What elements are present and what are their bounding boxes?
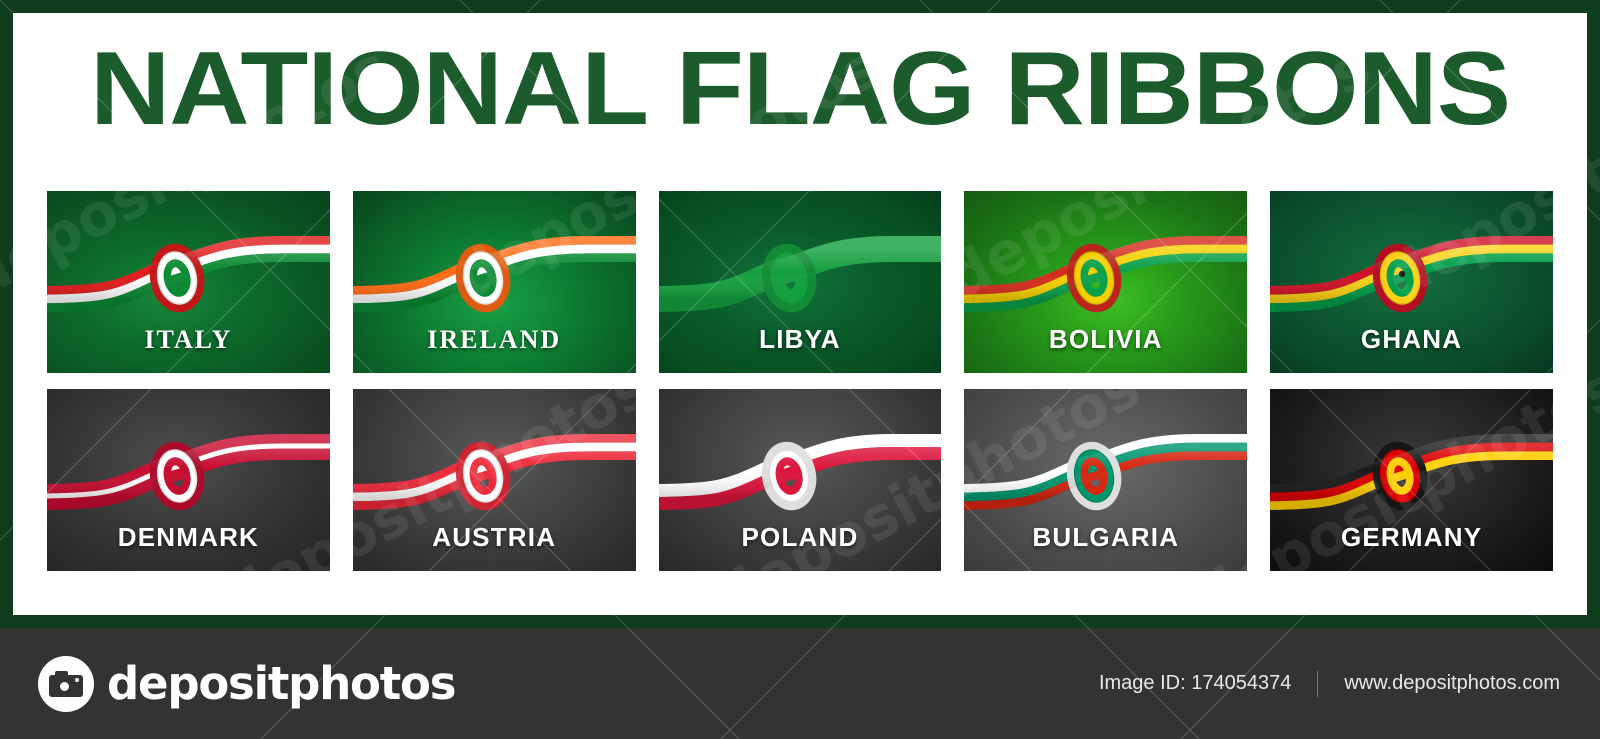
country-label: BOLIVIA bbox=[964, 324, 1247, 355]
website-link[interactable]: www.depositphotos.com bbox=[1344, 672, 1560, 695]
poster-frame: NATIONAL FLAG RIBBONS ITALY bbox=[0, 0, 1600, 628]
country-label: BULGARIA bbox=[964, 522, 1247, 553]
flag-tile-ghana: GHANA bbox=[1270, 191, 1553, 373]
depositphotos-footer: depositphotos Image ID: 174054374 www.de… bbox=[0, 628, 1600, 739]
flag-tile-germany: GERMANY bbox=[1270, 389, 1553, 571]
country-label: GERMANY bbox=[1270, 522, 1553, 553]
page-title: NATIONAL FLAG RIBBONS bbox=[0, 35, 1600, 144]
flag-tile-poland: POLAND bbox=[659, 389, 942, 571]
country-label: GHANA bbox=[1270, 324, 1553, 355]
country-label: IRELAND bbox=[353, 325, 636, 355]
country-label: POLAND bbox=[659, 522, 942, 553]
country-label: LIBYA bbox=[659, 324, 942, 355]
flag-tile-italy: ITALY bbox=[47, 191, 330, 373]
country-label: AUSTRIA bbox=[353, 522, 636, 553]
depositphotos-logo[interactable]: depositphotos bbox=[38, 656, 455, 712]
poster-paper: NATIONAL FLAG RIBBONS ITALY bbox=[13, 13, 1587, 615]
footer-meta: Image ID: 174054374 www.depositphotos.co… bbox=[1099, 671, 1560, 697]
flag-ribbon-grid: ITALY IRELAND bbox=[47, 191, 1553, 571]
screenshot-root: NATIONAL FLAG RIBBONS ITALY bbox=[0, 0, 1600, 739]
footer-divider bbox=[1317, 671, 1318, 697]
country-label: ITALY bbox=[47, 325, 330, 355]
flag-tile-bulgaria: BULGARIA bbox=[964, 389, 1247, 571]
flag-tile-libya: LIBYA bbox=[659, 191, 942, 373]
flag-tile-denmark: DENMARK bbox=[47, 389, 330, 571]
camera-icon bbox=[38, 656, 94, 712]
flag-tile-austria: AUSTRIA bbox=[353, 389, 636, 571]
image-id-label: Image ID: 174054374 bbox=[1099, 672, 1291, 695]
country-label: DENMARK bbox=[47, 522, 330, 553]
flag-tile-ireland: IRELAND bbox=[353, 191, 636, 373]
brand-wordmark: depositphotos bbox=[107, 657, 455, 710]
flag-tile-bolivia: BOLIVIA bbox=[964, 191, 1247, 373]
